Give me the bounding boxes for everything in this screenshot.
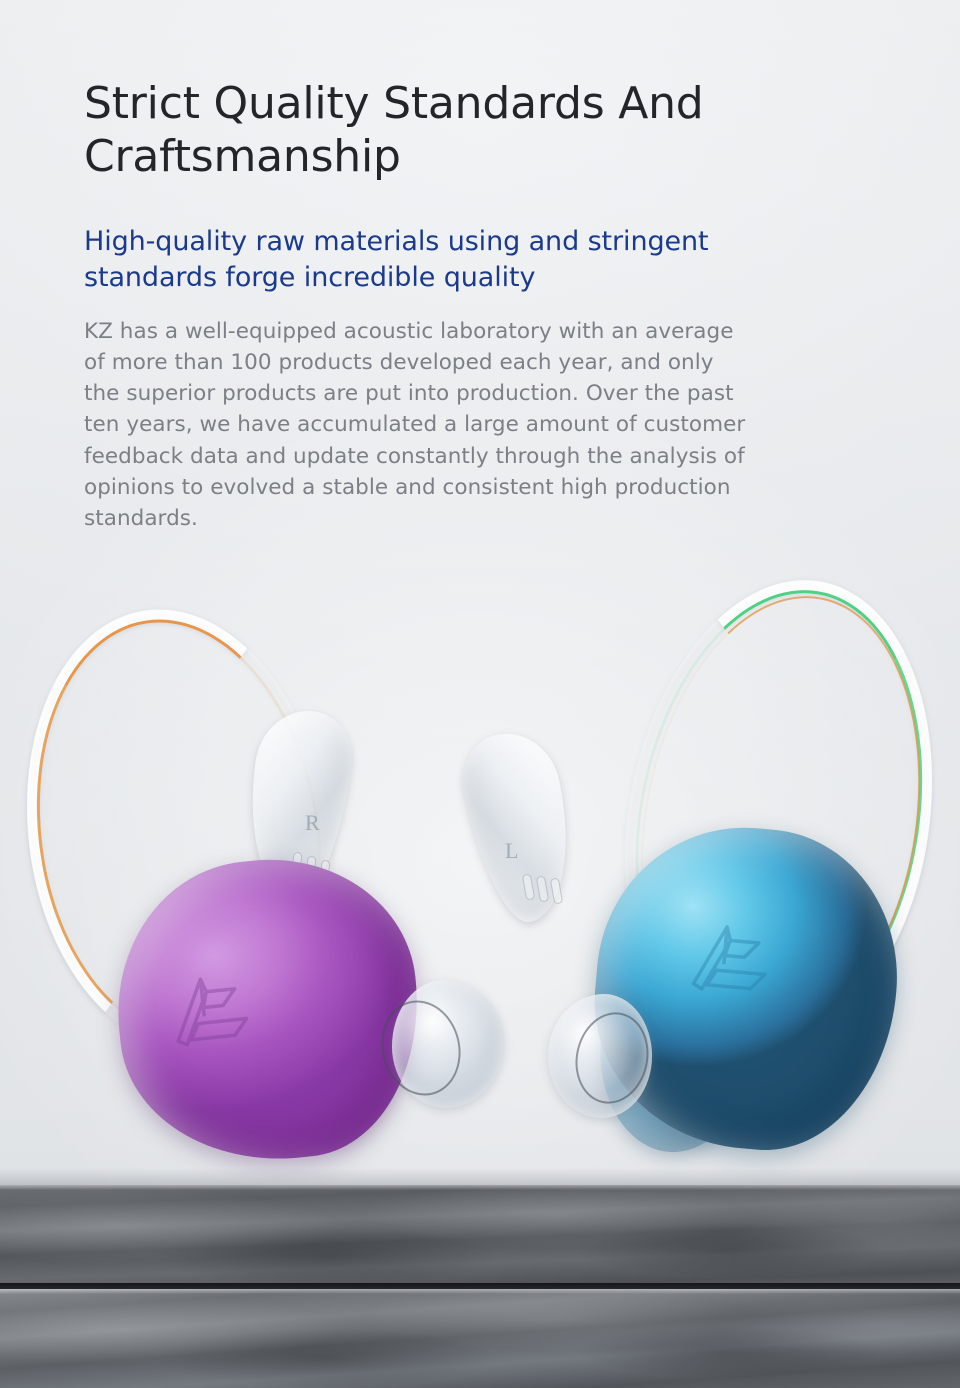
kz-logo-icon — [155, 953, 276, 1074]
product-feature-page: Strict Quality Standards And Craftsmansh… — [0, 0, 960, 1388]
right-channel-label: R — [305, 810, 320, 836]
subheadline: High-quality raw materials using and str… — [84, 224, 884, 296]
slab-texture — [0, 1185, 960, 1287]
stone-slab-lower — [0, 1289, 960, 1388]
left-channel-label: L — [505, 838, 518, 864]
slab-edge-highlight — [0, 1289, 960, 1294]
left-earphone-housing — [453, 724, 586, 930]
page-title: Strict Quality Standards And Craftsmansh… — [84, 78, 884, 184]
product-hero-image: R L — [0, 560, 960, 1210]
stone-slab-upper — [0, 1185, 960, 1287]
slab-texture — [0, 1289, 960, 1388]
slab-edge-highlight — [0, 1185, 960, 1190]
body-paragraph: KZ has a well-equipped acoustic laborato… — [84, 316, 884, 534]
copy-block: Strict Quality Standards And Craftsmansh… — [84, 78, 884, 534]
kz-logo-icon — [675, 903, 794, 1022]
